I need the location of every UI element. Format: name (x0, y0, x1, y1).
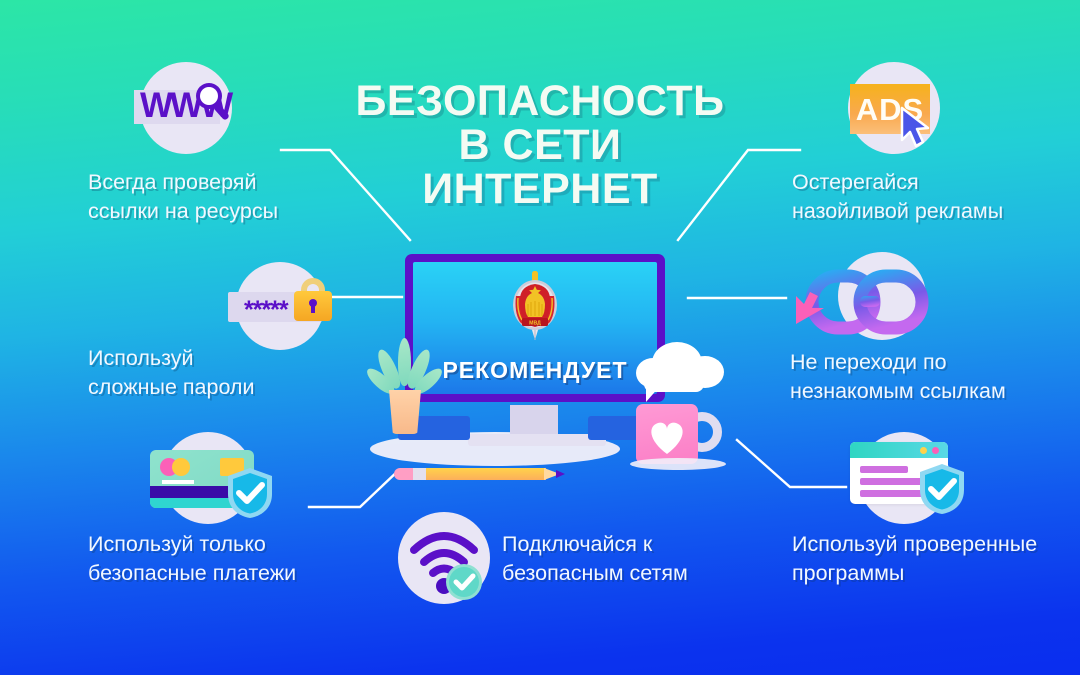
tip-line: Используй (88, 344, 255, 373)
tip-text-safe-networks: Подключайся к безопасным сетям (502, 530, 688, 587)
tip-line: Подключайся к (502, 530, 688, 559)
tip-text-no-unknown-links: Не переходи по незнакомым ссылкам (790, 348, 1006, 405)
central-computer-scene: МВД РЕКОМЕНДУЕТ (350, 250, 750, 520)
pencil (394, 466, 574, 482)
infographic-poster: БЕЗОПАСНОСТЬ В СЕТИ ИНТЕРНЕТ (0, 0, 1080, 675)
connector-trusted-software (737, 440, 846, 487)
ads-banner-cursor-icon: ADS (850, 84, 940, 136)
tip-line: назойливой рекламы (792, 197, 1003, 226)
shield-check-icon (224, 466, 276, 520)
tip-line: безопасные платежи (88, 559, 296, 588)
browser-window-shield-icon (850, 442, 980, 516)
tip-text-strong-passwords: Используй сложные пароли (88, 344, 255, 401)
monitor-neck (510, 405, 558, 437)
cloud-decoration (636, 342, 728, 398)
pencil-ferrule (413, 468, 427, 480)
tip-line: ссылки на ресурсы (88, 197, 278, 226)
title-line-3: ИНТЕРНЕТ (330, 168, 750, 212)
broken-chain-link-icon (794, 262, 954, 342)
tip-text-beware-ads: Остерегайся назойливой рекламы (792, 168, 1003, 225)
mug-body (636, 404, 698, 464)
credit-card-shield-icon (150, 450, 280, 516)
tip-text-trusted-software: Используй проверенные программы (792, 530, 1037, 587)
magnifier-icon (188, 76, 236, 124)
shield-check-icon (916, 462, 968, 516)
emblem-label: МВД (529, 320, 541, 326)
wifi-check-icon (406, 524, 486, 600)
tip-text-check-links: Всегда проверяй ссылки на ресурсы (88, 168, 278, 225)
tip-line: Используй проверенные (792, 530, 1037, 559)
pencil-lead (556, 470, 565, 478)
mug-saucer (630, 458, 726, 470)
monitor-screen: МВД РЕКОМЕНДУЕТ (413, 262, 657, 394)
tip-line: Всегда проверяй (88, 168, 278, 197)
tip-line: незнакомым ссылкам (790, 377, 1006, 406)
screen-caption: РЕКОМЕНДУЕТ (413, 357, 657, 384)
tip-line: программы (792, 559, 1037, 588)
plant-pot (389, 390, 421, 434)
www-search-icon: WWW (134, 90, 220, 124)
tip-line: Не переходи по (790, 348, 1006, 377)
tip-line: Используй только (88, 530, 296, 559)
page-title: БЕЗОПАСНОСТЬ В СЕТИ ИНТЕРНЕТ (330, 80, 750, 212)
title-line-1: БЕЗОПАСНОСТЬ (330, 80, 750, 124)
pencil-eraser (394, 468, 414, 480)
tip-line: безопасным сетям (502, 559, 688, 588)
browser-titlebar (850, 442, 948, 458)
tip-line: Остерегайся (792, 168, 1003, 197)
coffee-mug (630, 396, 728, 470)
password-mask: ***** (244, 296, 288, 325)
monitor-frame: МВД РЕКОМЕНДУЕТ (405, 254, 665, 402)
cursor-arrow-icon (898, 106, 938, 150)
tip-text-safe-payments: Используй только безопасные платежи (88, 530, 296, 587)
title-line-2: В СЕТИ (330, 124, 750, 168)
heart-icon (636, 404, 698, 464)
potted-plant (374, 338, 436, 438)
pencil-body (426, 468, 546, 480)
password-lock-icon: ***** (228, 290, 338, 330)
tip-line: сложные пароли (88, 373, 255, 402)
padlock-icon (290, 278, 336, 328)
mvd-belarus-emblem: МВД (506, 268, 564, 342)
monitor-base (468, 434, 606, 446)
